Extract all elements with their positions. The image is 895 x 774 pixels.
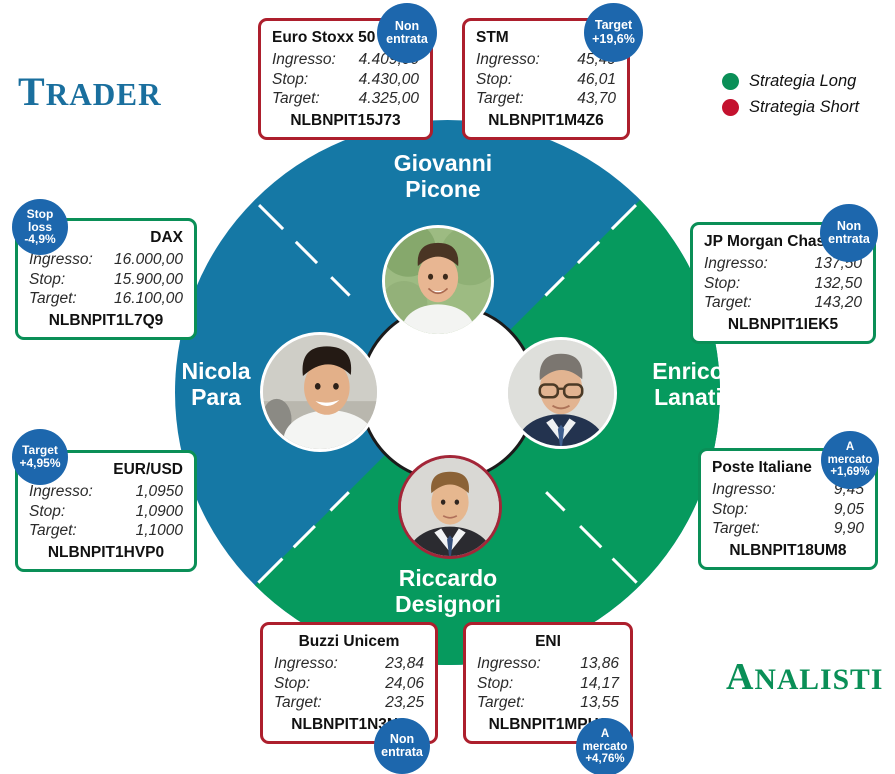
row-label: Stop: xyxy=(712,500,760,520)
badge-line-2: +4,95% xyxy=(19,457,60,470)
badge-line-3: -4,9% xyxy=(24,233,55,246)
row-label: Stop: xyxy=(477,674,525,694)
card-isin-code: NLBNPIT18UM8 xyxy=(712,542,864,560)
row-label: Target: xyxy=(712,519,772,539)
row-value: 13,86 xyxy=(580,654,619,674)
legend-item-long: Strategia Long xyxy=(722,68,859,94)
row-value: 132,50 xyxy=(815,274,862,294)
badge-line-2: mercato xyxy=(828,454,873,466)
row-label: Stop: xyxy=(29,270,77,290)
red-dot-icon xyxy=(722,99,739,116)
card-row-target: Target: 23,25 xyxy=(274,693,424,713)
avatar-enrico-lanati xyxy=(505,337,617,449)
card-row-ingresso: Ingresso: 1,0950 xyxy=(29,482,183,502)
status-badge-eurusd: Target +4,95% xyxy=(12,429,68,485)
row-label: Target: xyxy=(272,89,332,109)
row-value: 15.900,00 xyxy=(114,270,183,290)
row-value: 1,0950 xyxy=(136,482,183,502)
legend: Strategia Long Strategia Short xyxy=(722,68,859,120)
row-value: 16.100,00 xyxy=(114,289,183,309)
row-value: 1,1000 xyxy=(136,521,183,541)
status-badge-eurostoxx: Non entrata xyxy=(377,3,437,63)
status-badge-poste-italiane: A mercato +1,69% xyxy=(821,431,879,489)
person-name-enrico-lanati: Enrico Lanati xyxy=(608,358,768,410)
row-label: Target: xyxy=(29,521,89,541)
infographic-canvas: TRADER ANALISTI Strategia Long Strategia… xyxy=(0,0,895,774)
row-label: Stop: xyxy=(704,274,752,294)
status-badge-buzzi-unicem: Non entrata xyxy=(374,718,430,774)
card-row-ingresso: Ingresso: 16.000,00 xyxy=(29,250,183,270)
badge-line-2: entrata xyxy=(381,746,423,760)
card-isin-code: NLBNPIT1M4Z6 xyxy=(476,112,616,130)
row-value: 9,05 xyxy=(834,500,864,520)
row-value: 1,0900 xyxy=(136,502,183,522)
card-isin-code: NLBNPIT1HVP0 xyxy=(29,544,183,562)
row-label: Ingresso: xyxy=(477,654,553,674)
row-label: Target: xyxy=(274,693,334,713)
card-row-stop: Stop: 14,17 xyxy=(477,674,619,694)
card-row-target: Target: 4.325,00 xyxy=(272,89,419,109)
row-value: 46,01 xyxy=(577,70,616,90)
card-row-target: Target: 16.100,00 xyxy=(29,289,183,309)
avatar-riccardo-designori xyxy=(398,455,502,559)
badge-line-3: +1,69% xyxy=(830,466,869,478)
analisti-title: ANALISTI xyxy=(726,655,883,699)
badge-line-1: Target xyxy=(595,19,632,33)
status-badge-eni: A mercato +4,76% xyxy=(576,718,634,774)
card-row-target: Target: 43,70 xyxy=(476,89,616,109)
row-label: Stop: xyxy=(272,70,320,90)
row-label: Ingresso: xyxy=(476,50,552,70)
card-row-ingresso: Ingresso: 23,84 xyxy=(274,654,424,674)
card-title: ENI xyxy=(477,633,619,651)
row-value: 23,84 xyxy=(385,654,424,674)
status-badge-jpmorgan: Non entrata xyxy=(820,204,878,262)
badge-line-1: Non xyxy=(390,733,414,747)
card-row-stop: Stop: 46,01 xyxy=(476,70,616,90)
trader-title-text: TRADER xyxy=(18,69,162,114)
card-row-ingresso: Ingresso: 13,86 xyxy=(477,654,619,674)
badge-line-1: Stop xyxy=(27,208,54,221)
badge-line-1: Non xyxy=(395,20,419,34)
legend-item-short: Strategia Short xyxy=(722,94,859,120)
badge-line-1: A xyxy=(846,441,854,453)
legend-label-short: Strategia Short xyxy=(749,98,859,117)
card-isin-code: NLBNPIT15J73 xyxy=(272,112,419,130)
row-value: 16.000,00 xyxy=(114,250,183,270)
row-label: Stop: xyxy=(29,502,77,522)
badge-line-2: mercato xyxy=(583,741,628,753)
row-label: Ingresso: xyxy=(274,654,350,674)
badge-line-1: Non xyxy=(837,220,861,234)
person-name-riccardo-designori: Riccardo Designori xyxy=(338,565,558,617)
row-label: Stop: xyxy=(476,70,524,90)
card-row-target: Target: 1,1000 xyxy=(29,521,183,541)
legend-label-long: Strategia Long xyxy=(749,72,856,91)
badge-line-2: +19,6% xyxy=(592,33,635,47)
green-dot-icon xyxy=(722,73,739,90)
badge-line-3: +4,76% xyxy=(585,753,624,765)
badge-line-2: entrata xyxy=(386,33,428,47)
card-row-stop: Stop: 4.430,00 xyxy=(272,70,419,90)
status-badge-stm: Target +19,6% xyxy=(584,3,643,62)
card-row-stop: Stop: 9,05 xyxy=(712,500,864,520)
row-value: 143,20 xyxy=(815,293,862,313)
row-label: Stop: xyxy=(274,674,322,694)
card-row-target: Target: 143,20 xyxy=(704,293,862,313)
row-label: Ingresso: xyxy=(704,254,780,274)
analisti-title-text: ANALISTI xyxy=(726,656,883,698)
card-row-stop: Stop: 24,06 xyxy=(274,674,424,694)
person-name-giovanni-picone: Giovanni Picone xyxy=(338,150,548,202)
card-row-target: Target: 9,90 xyxy=(712,519,864,539)
badge-line-1: A xyxy=(601,728,609,740)
row-value: 13,55 xyxy=(580,693,619,713)
row-value: 14,17 xyxy=(580,674,619,694)
row-label: Target: xyxy=(29,289,89,309)
card-row-target: Target: 13,55 xyxy=(477,693,619,713)
card-isin-code: NLBNPIT1IEK5 xyxy=(704,316,862,334)
card-title: Buzzi Unicem xyxy=(274,633,424,651)
row-value: 24,06 xyxy=(385,674,424,694)
card-row-stop: Stop: 132,50 xyxy=(704,274,862,294)
row-label: Target: xyxy=(477,693,537,713)
row-value: 43,70 xyxy=(577,89,616,109)
row-label: Ingresso: xyxy=(712,480,788,500)
row-label: Target: xyxy=(476,89,536,109)
avatar-nicola-para xyxy=(260,332,380,452)
card-row-stop: Stop: 1,0900 xyxy=(29,502,183,522)
avatar-giovanni-picone xyxy=(382,225,494,337)
badge-line-2: entrata xyxy=(828,233,870,247)
trader-title: TRADER xyxy=(18,68,162,115)
row-label: Ingresso: xyxy=(272,50,348,70)
row-value: 23,25 xyxy=(385,693,424,713)
card-isin-code: NLBNPIT1L7Q9 xyxy=(29,312,183,330)
row-label: Target: xyxy=(704,293,764,313)
row-value: 9,90 xyxy=(834,519,864,539)
row-value: 4.430,00 xyxy=(359,70,419,90)
row-value: 4.325,00 xyxy=(359,89,419,109)
status-badge-dax: Stop loss -4,9% xyxy=(12,199,68,255)
card-row-stop: Stop: 15.900,00 xyxy=(29,270,183,290)
